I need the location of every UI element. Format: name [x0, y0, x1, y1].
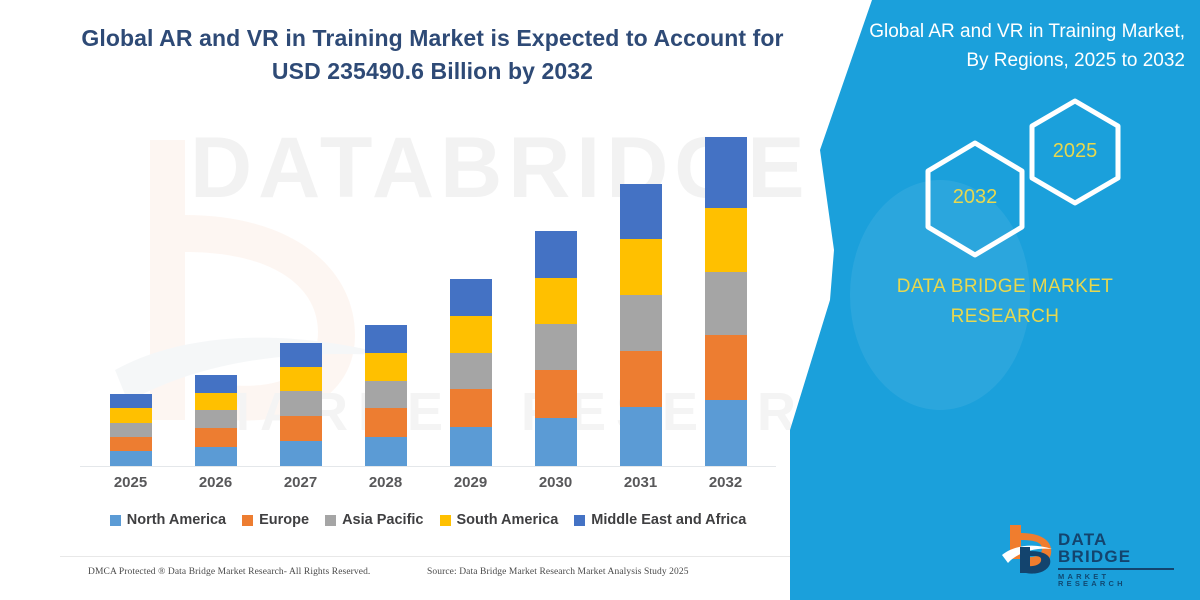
bar-segment[interactable] — [280, 367, 322, 391]
brand-name: DATA BRIDGE MARKET RESEARCH — [830, 272, 1180, 333]
bar-segment[interactable] — [365, 437, 407, 466]
legend-swatch — [242, 515, 253, 526]
bar-slot — [683, 130, 768, 466]
bar-segment[interactable] — [705, 208, 747, 272]
bar-segment[interactable] — [195, 375, 237, 393]
bar-segment[interactable] — [280, 343, 322, 367]
stacked-bar[interactable] — [535, 231, 577, 466]
bar-slot — [258, 130, 343, 466]
legend-item[interactable]: Asia Pacific — [325, 512, 423, 528]
bar-segment[interactable] — [365, 381, 407, 408]
bar-segment[interactable] — [535, 231, 577, 278]
legend-item[interactable]: Middle East and Africa — [574, 512, 746, 528]
legend-swatch — [440, 515, 451, 526]
hexagon-2025: 2025 — [1025, 96, 1125, 208]
bar-segment[interactable] — [620, 407, 662, 466]
legend-item[interactable]: Europe — [242, 512, 309, 528]
bar-slot — [173, 130, 258, 466]
bar-segment[interactable] — [705, 400, 747, 466]
bar-segment[interactable] — [365, 353, 407, 381]
logo-mark-icon — [1000, 523, 1056, 577]
legend-label: Europe — [259, 512, 309, 528]
bar-segment[interactable] — [705, 272, 747, 335]
bar-segment[interactable] — [110, 451, 152, 466]
stacked-bar[interactable] — [705, 137, 747, 466]
bar-slot — [598, 130, 683, 466]
bar-segment[interactable] — [365, 408, 407, 436]
bar-segment[interactable] — [450, 279, 492, 316]
bar-slot — [88, 130, 173, 466]
legend-label: North America — [127, 512, 226, 528]
bar-segment[interactable] — [195, 447, 237, 466]
stacked-bar[interactable] — [195, 375, 237, 466]
bar-slot — [428, 130, 513, 466]
hexagon-2025-label: 2025 — [1025, 140, 1125, 163]
company-logo: DATA BRIDGE MARKET RESEARCH — [1000, 523, 1180, 581]
logo-subtitle: MARKET RESEARCH — [1058, 573, 1180, 588]
x-axis-label: 2026 — [173, 474, 258, 491]
brand-panel-heading: Global AR and VR in Training Market, By … — [835, 18, 1185, 75]
bar-segment[interactable] — [535, 324, 577, 370]
footer-divider — [60, 556, 820, 557]
footer-source: Source: Data Bridge Market Research Mark… — [427, 567, 689, 577]
legend-label: Asia Pacific — [342, 512, 423, 528]
bar-segment[interactable] — [195, 428, 237, 447]
legend-item[interactable]: North America — [110, 512, 226, 528]
bar-segment[interactable] — [535, 370, 577, 417]
bar-segment[interactable] — [280, 391, 322, 415]
bar-slot — [343, 130, 428, 466]
x-axis-labels: 20252026202720282029203020312032 — [88, 474, 768, 491]
bar-segment[interactable] — [280, 441, 322, 466]
stacked-bar[interactable] — [365, 325, 407, 466]
stacked-bar[interactable] — [620, 184, 662, 466]
year-hexagons: 2025 2032 — [900, 96, 1200, 226]
legend-swatch — [574, 515, 585, 526]
legend-item[interactable]: South America — [440, 512, 559, 528]
bar-segment[interactable] — [110, 408, 152, 423]
stacked-bar-chart — [88, 130, 768, 466]
bar-segment[interactable] — [450, 316, 492, 353]
chart-legend: North AmericaEuropeAsia PacificSouth Ame… — [88, 512, 768, 528]
brand-heading-line-2: By Regions, 2025 to 2032 — [835, 47, 1185, 76]
x-axis-label: 2029 — [428, 474, 513, 491]
logo-wordmark: DATA BRIDGE MARKET RESEARCH — [1058, 531, 1180, 588]
bar-group — [88, 130, 768, 466]
infographic-root: DATABRIDGE MARKET RESEARCH Global AR and… — [0, 0, 1200, 600]
legend-label: South America — [457, 512, 559, 528]
bar-segment[interactable] — [705, 137, 747, 207]
x-axis-label: 2028 — [343, 474, 428, 491]
legend-label: Middle East and Africa — [591, 512, 746, 528]
brand-heading-line-1: Global AR and VR in Training Market, — [835, 18, 1185, 47]
bar-segment[interactable] — [535, 278, 577, 324]
bar-segment[interactable] — [535, 418, 577, 466]
bar-segment[interactable] — [110, 394, 152, 409]
brand-panel: Global AR and VR in Training Market, By … — [790, 0, 1200, 600]
bar-segment[interactable] — [620, 184, 662, 240]
logo-divider — [1058, 568, 1174, 570]
chart-panel: DATABRIDGE MARKET RESEARCH Global AR and… — [0, 0, 880, 600]
bar-segment[interactable] — [110, 423, 152, 437]
footer: DMCA Protected ® Data Bridge Market Rese… — [0, 556, 880, 600]
footer-copyright: DMCA Protected ® Data Bridge Market Rese… — [88, 567, 370, 577]
bar-slot — [513, 130, 598, 466]
x-axis-line — [80, 466, 776, 467]
bar-segment[interactable] — [620, 351, 662, 408]
stacked-bar[interactable] — [110, 394, 152, 466]
bar-segment[interactable] — [365, 325, 407, 352]
bar-segment[interactable] — [195, 410, 237, 428]
bar-segment[interactable] — [450, 389, 492, 427]
bar-segment[interactable] — [450, 353, 492, 390]
legend-swatch — [110, 515, 121, 526]
hexagon-2032: 2032 — [920, 138, 1030, 260]
brand-name-line-1: DATA BRIDGE MARKET — [830, 272, 1180, 302]
hexagon-2032-label: 2032 — [920, 186, 1030, 209]
brand-name-line-2: RESEARCH — [830, 302, 1180, 332]
bar-segment[interactable] — [705, 335, 747, 400]
legend-swatch — [325, 515, 336, 526]
page-title: Global AR and VR in Training Market is E… — [60, 22, 805, 89]
bar-segment[interactable] — [195, 393, 237, 411]
bar-segment[interactable] — [450, 427, 492, 466]
x-axis-label: 2027 — [258, 474, 343, 491]
bar-segment[interactable] — [280, 416, 322, 441]
bar-segment[interactable] — [620, 239, 662, 295]
bar-segment[interactable] — [110, 437, 152, 452]
x-axis-label: 2032 — [683, 474, 768, 491]
x-axis-label: 2031 — [598, 474, 683, 491]
stacked-bar[interactable] — [280, 343, 322, 466]
logo-name: DATA BRIDGE — [1058, 531, 1180, 565]
bar-segment[interactable] — [620, 295, 662, 351]
x-axis-label: 2025 — [88, 474, 173, 491]
stacked-bar[interactable] — [450, 279, 492, 466]
x-axis-label: 2030 — [513, 474, 598, 491]
